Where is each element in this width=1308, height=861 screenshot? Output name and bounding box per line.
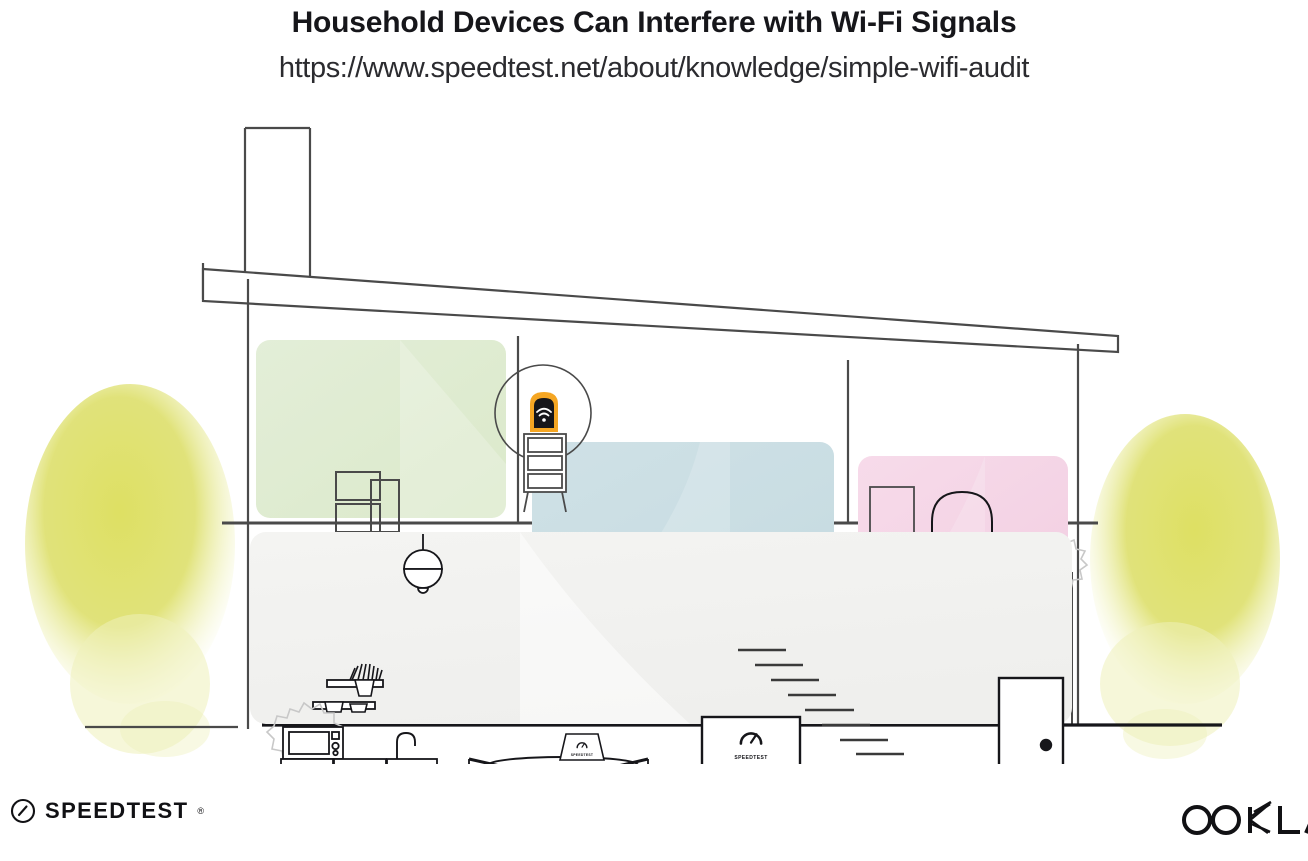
- laptop-dining: SPEEDTEST: [560, 734, 604, 760]
- speedtest-trademark: ®: [197, 806, 204, 816]
- foliage-left: [25, 384, 235, 757]
- ookla-logo[interactable]: OOKLA: [1178, 800, 1308, 840]
- roof: [203, 263, 1118, 352]
- wifi-router-icon: [530, 392, 558, 432]
- speedtest-wordmark: SPEEDTEST: [45, 798, 188, 824]
- microwave: [283, 727, 343, 759]
- ookla-wordmark-glyphs: [1184, 802, 1308, 833]
- svg-text:SPEEDTEST: SPEEDTEST: [571, 753, 594, 757]
- footer: SPEEDTEST ® OOKLA: [0, 764, 1308, 861]
- source-url: https://www.speedtest.net/about/knowledg…: [0, 52, 1308, 85]
- infographic-page: Household Devices Can Interfere with Wi-…: [0, 0, 1308, 861]
- sink-faucet: [397, 733, 415, 759]
- room-ground-floor: SPEEDTEST: [250, 532, 1072, 764]
- house-cutaway-illustration: SPEEDTEST: [0, 104, 1308, 764]
- illustration-description: Cross-section cutaway of a two-story hou…: [0, 0, 1, 1]
- speedometer-icon: [10, 798, 36, 824]
- chimney: [245, 128, 310, 279]
- foliage-right: [1090, 414, 1280, 759]
- television: SPEEDTEST: [702, 717, 800, 764]
- speedtest-logo[interactable]: SPEEDTEST ®: [10, 798, 204, 824]
- svg-text:SPEEDTEST: SPEEDTEST: [734, 755, 767, 761]
- front-door: [999, 678, 1063, 764]
- page-title: Household Devices Can Interfere with Wi-…: [0, 6, 1308, 40]
